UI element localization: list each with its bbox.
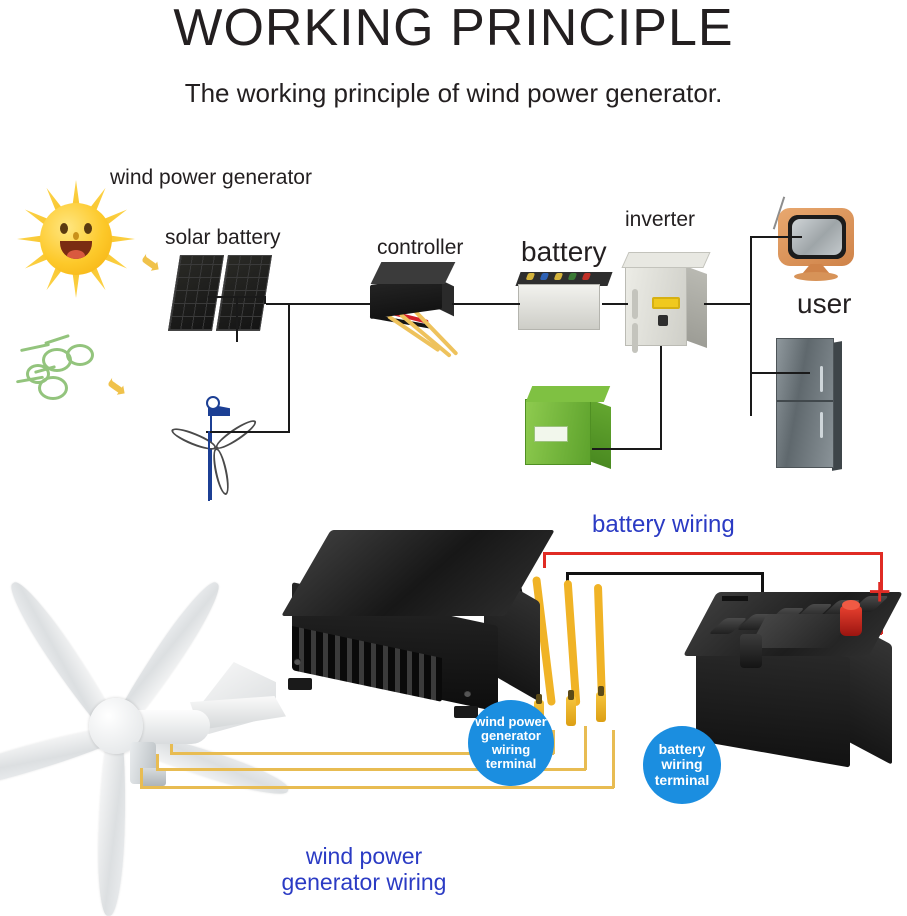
label-battery-wiring: battery wiring (592, 512, 735, 539)
green-appliance-icon (525, 386, 611, 468)
wire-user-to-fridge (750, 372, 810, 374)
generator-wire-tip-2 (566, 696, 576, 726)
label-inverter: inverter (625, 208, 695, 232)
wire-inverter-down (660, 346, 662, 450)
wire-user-to-tv (750, 236, 802, 238)
generator-route-1-down (612, 730, 615, 788)
wire-solar-to-controller (266, 303, 372, 305)
battery-negative-route-top (566, 572, 764, 575)
wind-turbine-icon (178, 370, 248, 500)
page-title: WORKING PRINCIPLE (0, 0, 907, 58)
wire-controller-to-battery (452, 303, 520, 305)
label-controller: controller (377, 236, 463, 260)
generator-wire-tip-metal-3 (598, 686, 604, 696)
wire-battery-to-inverter (602, 303, 628, 305)
arrow-down-right-icon: ➥ (133, 245, 169, 283)
refrigerator-icon (776, 338, 842, 472)
sun-smiling-icon (22, 185, 130, 293)
wire-turbine-riser (208, 431, 210, 501)
television-icon (768, 196, 866, 288)
wire-user-riser (750, 236, 752, 416)
wire-panel-stem (236, 296, 238, 342)
generator-wire-tip-3 (596, 692, 606, 722)
generator-route-2-down (584, 726, 587, 770)
wire-green-appliance (592, 448, 662, 450)
generator-route-1-back (140, 786, 614, 789)
car-battery-icon (694, 592, 894, 768)
battery-positive-route-top (543, 552, 883, 555)
label-generator-wiring: wind power generator wiring (254, 844, 474, 896)
wire-controller-down (288, 303, 290, 433)
label-user: user (797, 288, 851, 320)
generator-route-2-riser (156, 754, 159, 770)
generator-wire-2 (564, 580, 581, 706)
generator-route-3-riser (170, 744, 173, 754)
inverter-cabinet-icon (625, 252, 707, 347)
generator-wire-tip-metal-2 (568, 690, 574, 700)
wire-inverter-to-user (704, 303, 752, 305)
generator-wire-tip-metal-1 (536, 694, 542, 704)
positive-terminal-sign: + (868, 572, 891, 612)
generator-route-1-riser (140, 768, 143, 788)
label-generator-wiring-line2: generator wiring (282, 869, 447, 895)
solar-panel-icon (170, 255, 270, 335)
controller-box-icon (370, 262, 456, 322)
page-subtitle: The working principle of wind power gene… (0, 78, 907, 109)
wire-turbine-bus (206, 431, 290, 433)
label-generator-wiring-line1: wind power (306, 843, 422, 869)
label-battery: battery (521, 236, 607, 268)
label-solar-battery: solar battery (165, 226, 281, 250)
lead-acid-battery-icon (518, 272, 610, 330)
label-wind-power-generator: wind power generator (110, 166, 312, 190)
callout-generator-wiring-terminal: wind power generator wiring terminal (468, 700, 554, 786)
wind-turbine-5-blade-icon (0, 520, 294, 906)
negative-terminal-sign (722, 596, 748, 601)
callout-battery-wiring-terminal: battery wiring terminal (643, 726, 721, 804)
